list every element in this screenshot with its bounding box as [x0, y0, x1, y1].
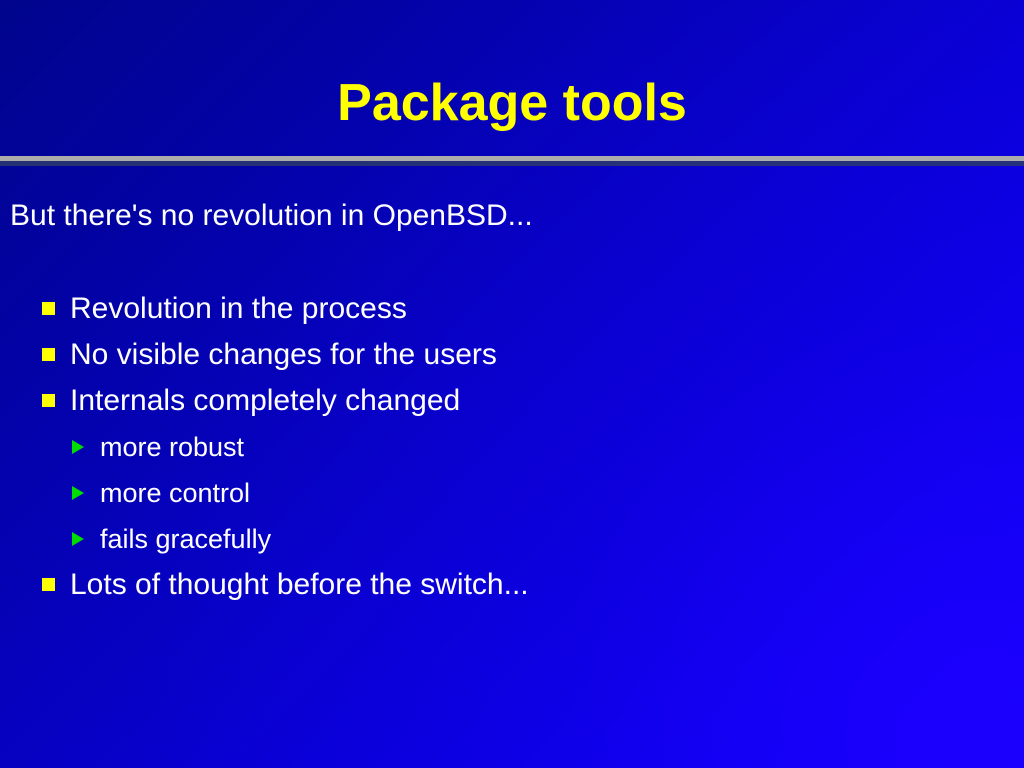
sub-list-item-label: fails gracefully [100, 524, 271, 554]
triangle-bullet-icon [72, 532, 84, 546]
list-item: Revolution in the process [0, 286, 1024, 332]
presentation-slide: Package tools But there's no revolution … [0, 0, 1024, 768]
title-divider [0, 156, 1024, 167]
page-title: Package tools [0, 72, 1024, 134]
slide-title-area: Package tools [0, 72, 1024, 134]
sub-list-item-label: more robust [100, 432, 244, 462]
list-item-label: Internals completely changed [70, 384, 460, 417]
triangle-bullet-icon [72, 440, 84, 454]
body-spacer [0, 236, 1024, 286]
sub-list-item: more control [0, 470, 1024, 516]
list-item-label: Revolution in the process [70, 292, 407, 325]
triangle-bullet-icon [72, 486, 84, 500]
list-item: Internals completely changed [0, 378, 1024, 424]
list-item-label: No visible changes for the users [70, 338, 497, 371]
square-bullet-icon [42, 394, 55, 407]
divider-shadow [0, 161, 1024, 166]
sub-list-item: more robust [0, 424, 1024, 470]
list-item: Lots of thought before the switch... [0, 562, 1024, 608]
lead-statement: But there's no revolution in OpenBSD... [0, 196, 1024, 236]
slide-body: But there's no revolution in OpenBSD... … [0, 196, 1024, 608]
slide-content: Package tools But there's no revolution … [0, 0, 1024, 768]
square-bullet-icon [42, 578, 55, 591]
list-item-label: Lots of thought before the switch... [70, 568, 529, 601]
sub-list-item-label: more control [100, 478, 250, 508]
list-item: No visible changes for the users [0, 332, 1024, 378]
sub-list-item: fails gracefully [0, 516, 1024, 562]
bullet-list: Revolution in the process No visible cha… [0, 286, 1024, 608]
square-bullet-icon [42, 302, 55, 315]
square-bullet-icon [42, 348, 55, 361]
